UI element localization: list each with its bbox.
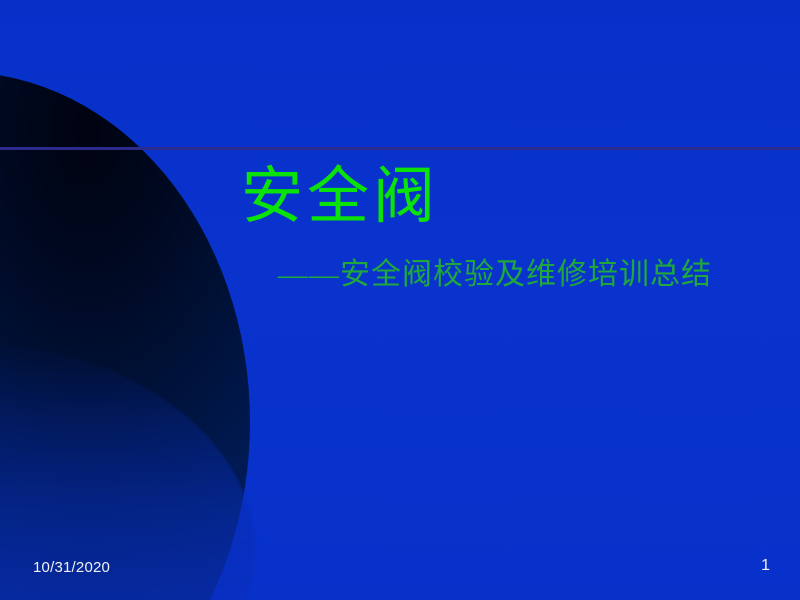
title-divider-rule	[0, 147, 800, 150]
slide-title: 安全阀	[0, 160, 800, 234]
slide-subtitle: ——安全阀校验及维修培训总结	[0, 256, 800, 294]
presentation-slide: 安全阀 ——安全阀校验及维修培训总结 10/31/2020 1	[0, 0, 800, 600]
footer-page-number: 1	[761, 556, 770, 576]
footer-date: 10/31/2020	[33, 558, 110, 578]
